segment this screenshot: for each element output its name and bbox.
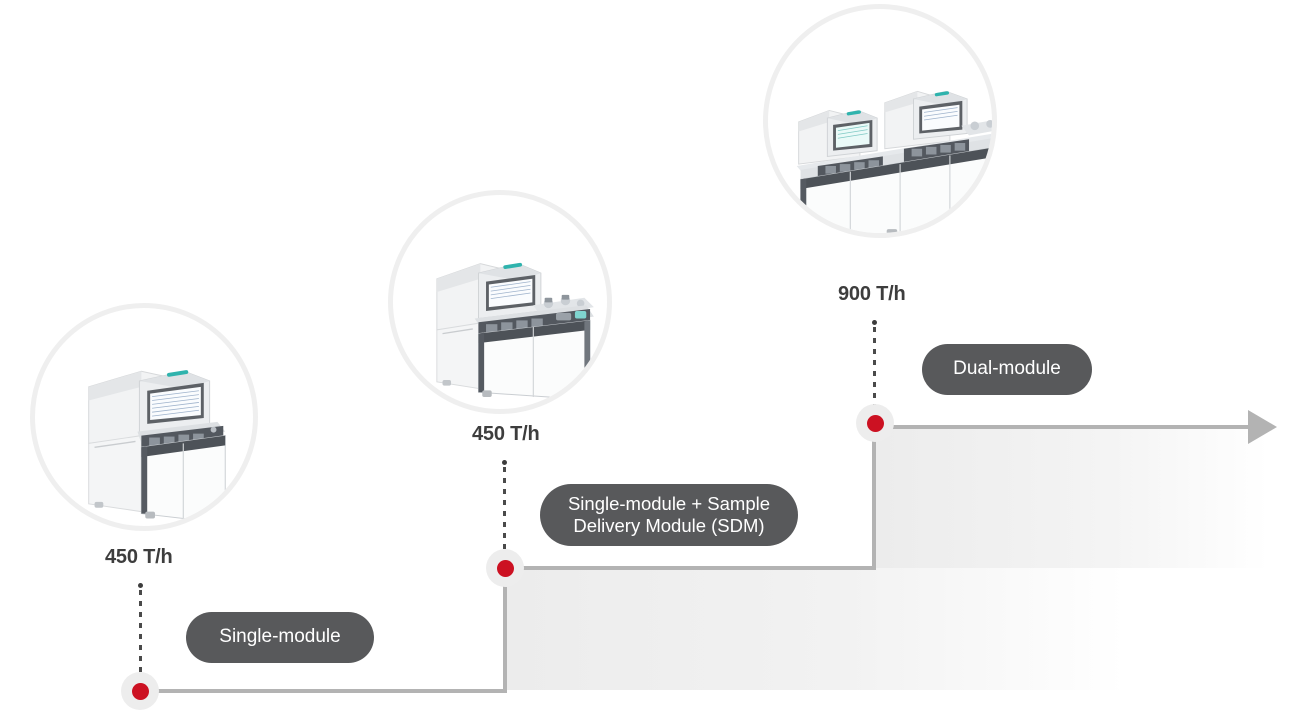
product-circle-single-module-sdm [388, 190, 612, 414]
connector-dots [503, 467, 506, 552]
pill-label-step-2[interactable]: Single-module + SampleDelivery Module (S… [540, 484, 798, 546]
connector-dots [139, 590, 142, 675]
product-circle-dual-module [763, 4, 997, 238]
connector-step-1 [139, 583, 142, 675]
node-marker-step-2[interactable] [486, 549, 524, 587]
pill-label-step-3[interactable]: Dual-module [922, 344, 1092, 395]
dual-module-analyzer-icon [768, 9, 992, 233]
step-block-2 [505, 568, 1125, 690]
pill-label-step-1[interactable]: Single-module [186, 612, 374, 663]
connector-cap-icon [138, 583, 143, 588]
connector-step-3 [873, 320, 876, 412]
single-module-analyzer-icon [35, 308, 253, 526]
node-marker-step-1[interactable] [121, 672, 159, 710]
arrow-right-icon [1248, 410, 1277, 444]
pill-text: Single-module + SampleDelivery Module (S… [568, 493, 770, 537]
node-marker-step-3[interactable] [856, 404, 894, 442]
connector-step-2 [503, 460, 506, 552]
connector-cap-icon [502, 460, 507, 465]
connector-cap-icon [872, 320, 877, 325]
pill-text: Single-module [219, 626, 340, 648]
single-module-with-sdm-analyzer-icon [393, 195, 607, 409]
value-label-step-3: 900 T/h [838, 283, 906, 306]
pill-text: Dual-module [953, 358, 1061, 380]
value-label-step-2: 450 T/h [472, 423, 540, 446]
step-block-3 [874, 427, 1269, 568]
connector-dots [873, 327, 876, 412]
value-label-step-1: 450 T/h [105, 546, 173, 569]
product-circle-single-module [30, 303, 258, 531]
roadmap-stage: 450 T/h Single-module [0, 0, 1290, 726]
